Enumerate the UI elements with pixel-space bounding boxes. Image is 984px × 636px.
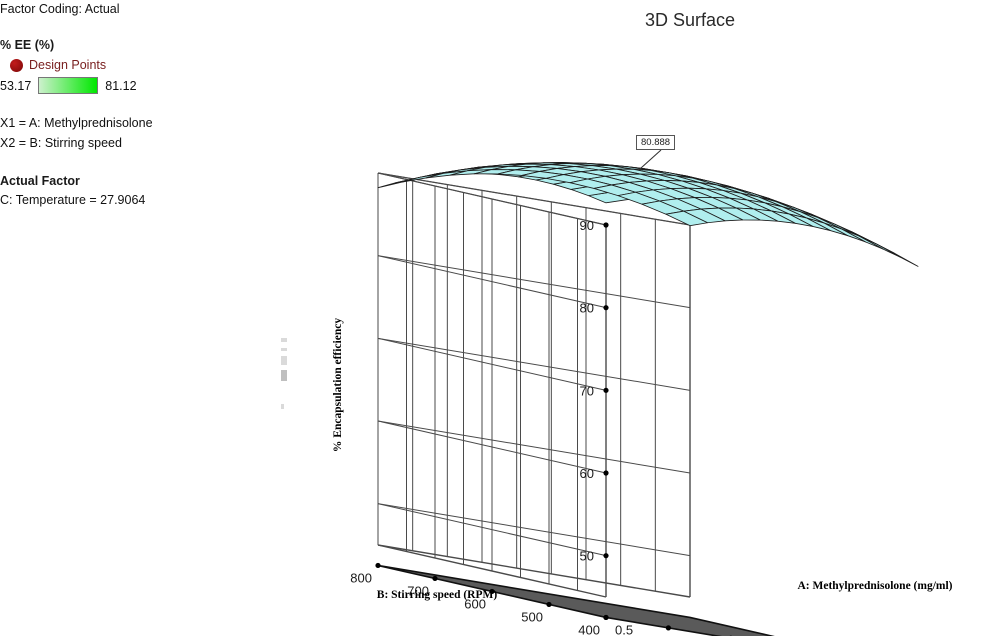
svg-text:70: 70 [580,383,594,398]
surface-plot: 5060708090% Encapsulation efficiency4005… [0,0,984,636]
svg-text:50: 50 [580,549,594,564]
svg-text:0.5: 0.5 [615,622,633,636]
peak-value-annotation: 80.888 [636,135,675,150]
svg-text:60: 60 [580,466,594,481]
peak-value-text: 80.888 [641,137,670,148]
svg-text:B: Stirring speed (RPM): B: Stirring speed (RPM) [377,589,498,601]
svg-text:80: 80 [580,301,594,316]
svg-text:% Encapsulation efficiency: % Encapsulation efficiency [332,318,344,452]
svg-text:90: 90 [580,218,594,233]
svg-text:800: 800 [350,570,372,585]
svg-text:A: Methylprednisolone (mg/ml): A: Methylprednisolone (mg/ml) [797,580,952,592]
svg-text:400: 400 [578,622,600,636]
svg-text:500: 500 [521,609,543,624]
